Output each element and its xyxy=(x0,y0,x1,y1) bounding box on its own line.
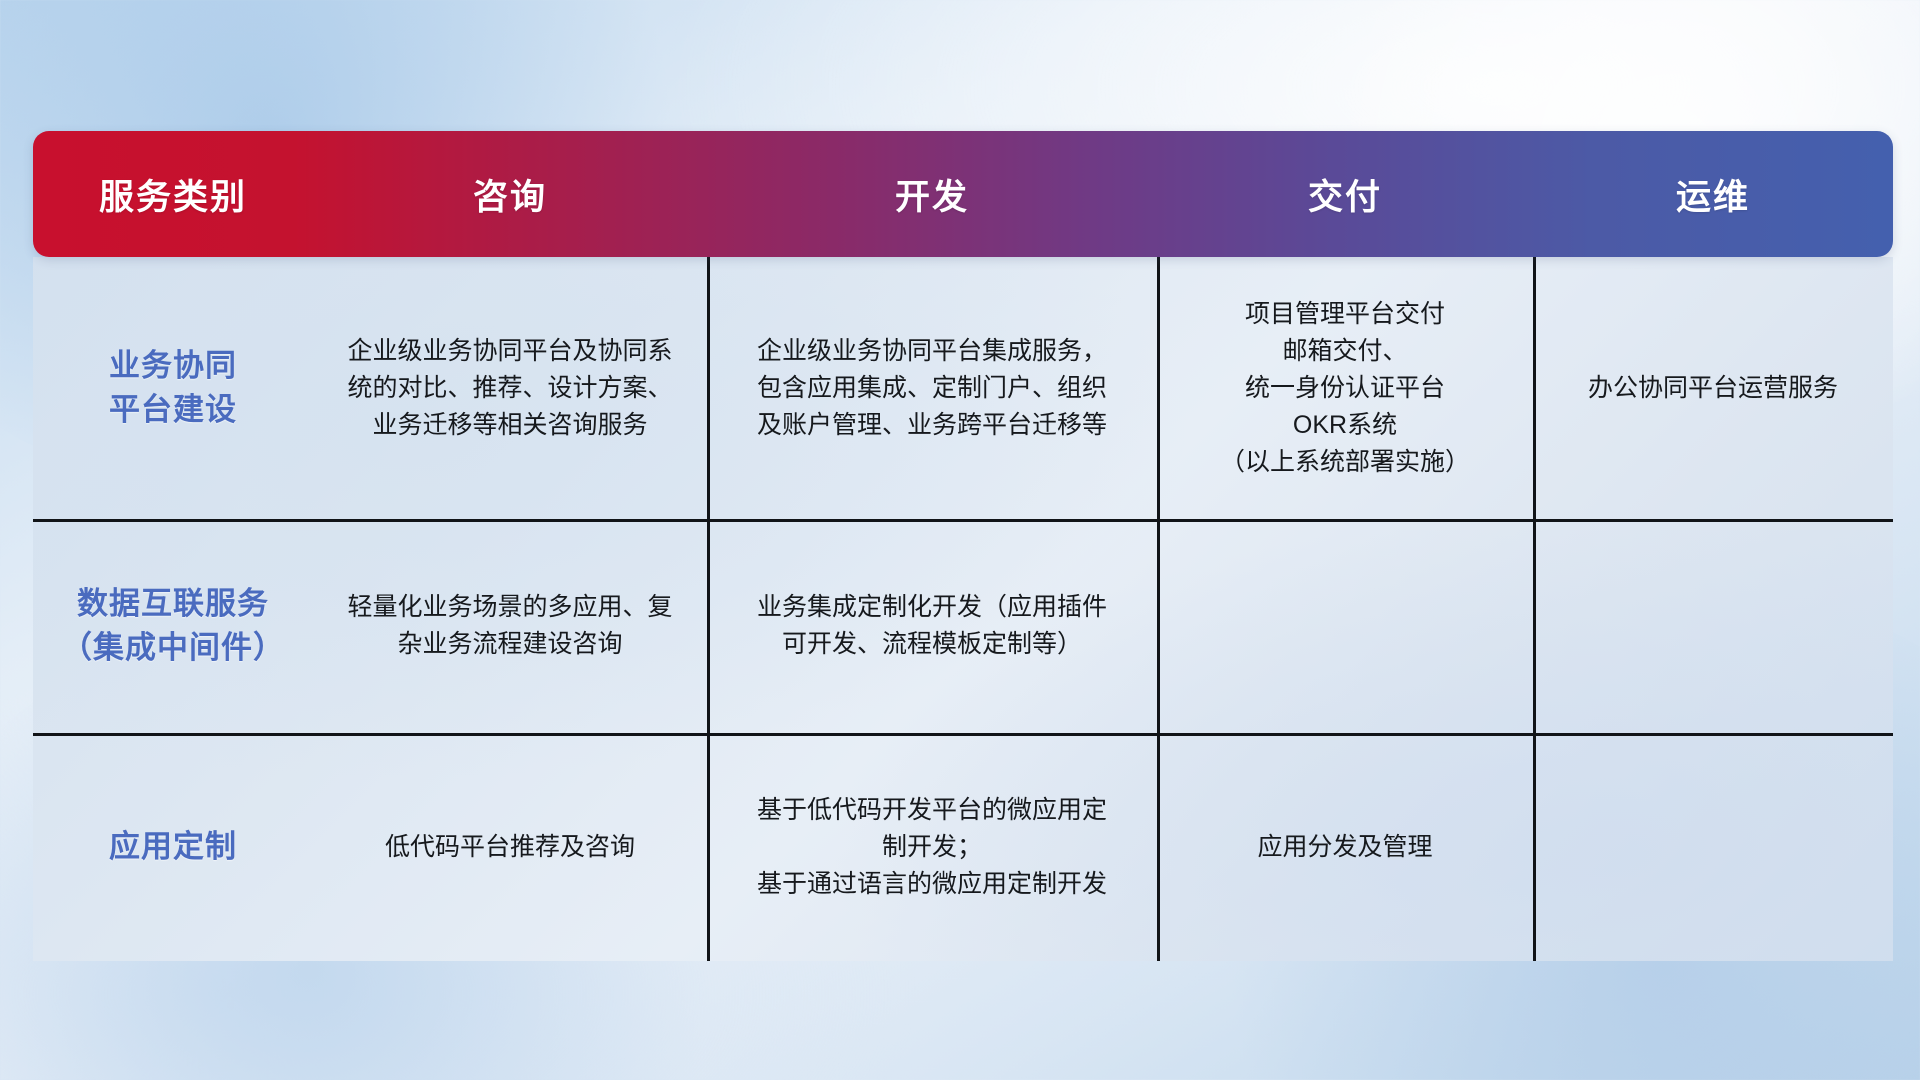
table-header-cell-consulting: 咨询 xyxy=(313,131,707,257)
cell-delivery: 应用分发及管理 xyxy=(1157,733,1533,961)
cell-delivery: 项目管理平台交付 邮箱交付、 统一身份认证平台 OKR系统 （以上系统部署实施） xyxy=(1157,257,1533,519)
row-category-label: 应用定制 xyxy=(33,733,313,961)
table-header-cell-development: 开发 xyxy=(707,131,1157,257)
table-header-row: 服务类别 咨询 开发 交付 运维 xyxy=(33,131,1893,257)
table-header-cell-operations: 运维 xyxy=(1533,131,1893,257)
table-header-cell-category: 服务类别 xyxy=(33,131,313,257)
cell-consulting: 低代码平台推荐及咨询 xyxy=(313,733,707,961)
row-category-label: 业务协同 平台建设 xyxy=(33,257,313,519)
table-row: 应用定制 低代码平台推荐及咨询 基于低代码开发平台的微应用定 制开发； 基于通过… xyxy=(33,733,1893,961)
row-category-label: 数据互联服务 （集成中间件） xyxy=(33,519,313,733)
table-header-cell-delivery: 交付 xyxy=(1157,131,1533,257)
table-row: 业务协同 平台建设 企业级业务协同平台及协同系 统的对比、推荐、设计方案、 业务… xyxy=(33,257,1893,519)
cell-consulting: 企业级业务协同平台及协同系 统的对比、推荐、设计方案、 业务迁移等相关咨询服务 xyxy=(313,257,707,519)
service-category-table: 服务类别 咨询 开发 交付 运维 业务协同 平台建设 企业级业务协同平台及协同系… xyxy=(33,131,1893,961)
cell-delivery xyxy=(1157,519,1533,733)
cell-operations: 办公协同平台运营服务 xyxy=(1533,257,1893,519)
table-row: 数据互联服务 （集成中间件） 轻量化业务场景的多应用、复 杂业务流程建设咨询 业… xyxy=(33,519,1893,733)
cell-operations xyxy=(1533,519,1893,733)
cell-operations xyxy=(1533,733,1893,961)
cell-development: 企业级业务协同平台集成服务， 包含应用集成、定制门户、组织 及账户管理、业务跨平… xyxy=(707,257,1157,519)
cell-development: 业务集成定制化开发（应用插件 可开发、流程模板定制等） xyxy=(707,519,1157,733)
cell-consulting: 轻量化业务场景的多应用、复 杂业务流程建设咨询 xyxy=(313,519,707,733)
cell-development: 基于低代码开发平台的微应用定 制开发； 基于通过语言的微应用定制开发 xyxy=(707,733,1157,961)
table-body: 业务协同 平台建设 企业级业务协同平台及协同系 统的对比、推荐、设计方案、 业务… xyxy=(33,257,1893,961)
